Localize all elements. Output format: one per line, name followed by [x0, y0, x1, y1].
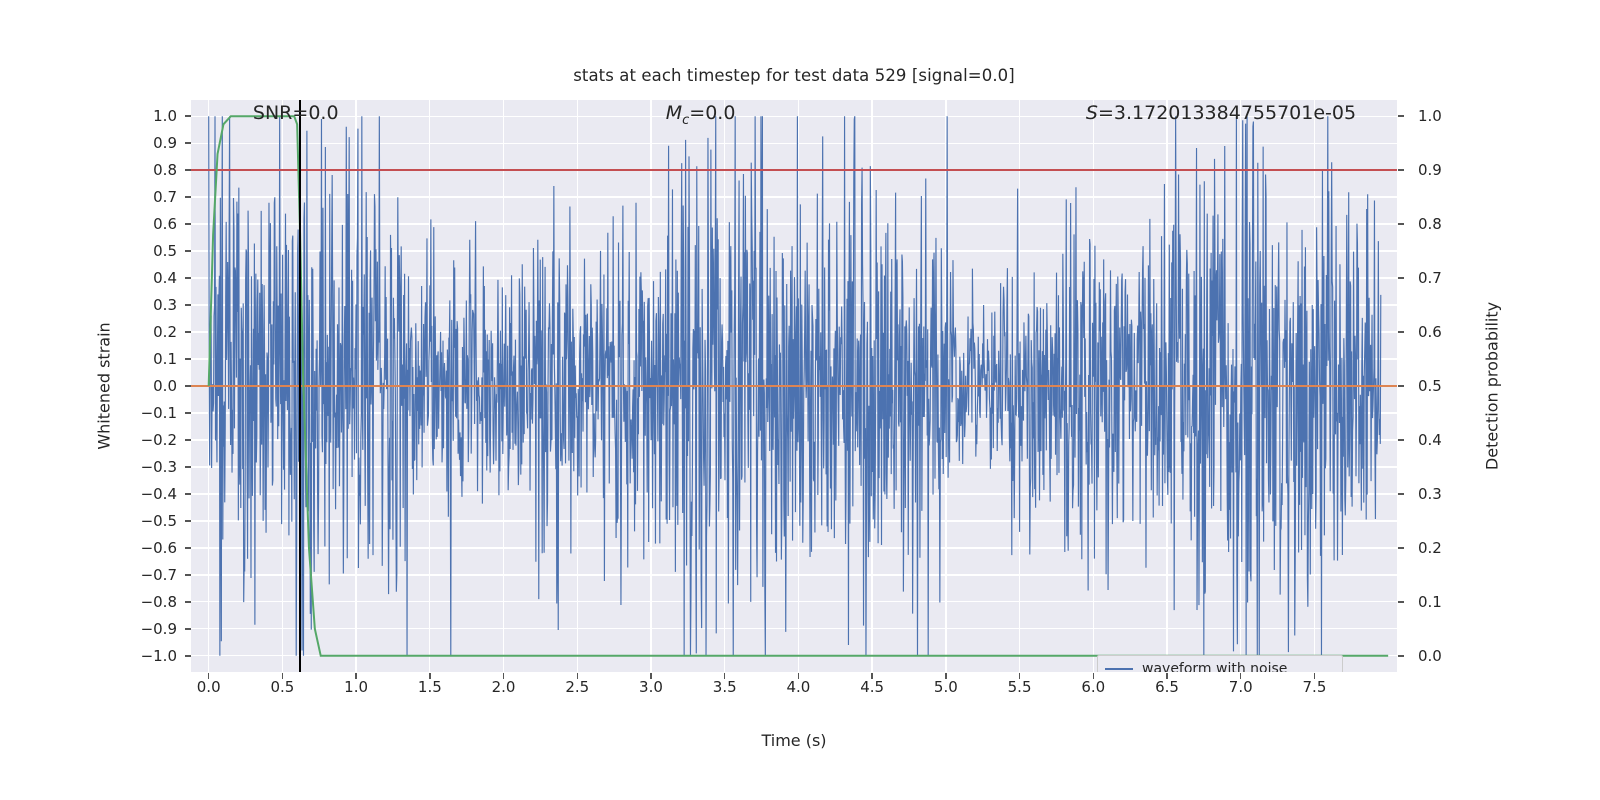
y-tick-label-left: −0.2 [135, 431, 177, 449]
y-tick-label-left: 0.1 [135, 350, 177, 368]
x-tick-mark [871, 673, 872, 679]
y-tick-label-left: 0.3 [135, 296, 177, 314]
y-tick-label-right: 0.3 [1418, 485, 1442, 503]
y-tick-label-left: −1.0 [135, 647, 177, 665]
x-tick-mark [1093, 673, 1094, 679]
y-tick-label-left: 1.0 [135, 107, 177, 125]
y-tick-mark-right [1398, 277, 1404, 278]
y-tick-mark-left [185, 142, 191, 143]
y-axis-left-label: Whitened strain [95, 322, 114, 449]
x-tick-mark [650, 673, 651, 679]
y-tick-label-right: 0.0 [1418, 647, 1442, 665]
y-tick-mark-right [1398, 547, 1404, 548]
y-tick-label-left: −0.9 [135, 620, 177, 638]
y-tick-label-left: 0.2 [135, 323, 177, 341]
x-tick-label: 7.5 [1303, 678, 1327, 696]
x-tick-label: 1.5 [418, 678, 442, 696]
y-tick-mark-left [185, 439, 191, 440]
y-tick-mark-left [185, 115, 191, 116]
x-tick-mark [355, 673, 356, 679]
x-tick-mark [282, 673, 283, 679]
y-axis-right-label: Detection probability [1483, 302, 1502, 470]
legend-swatch-blue-icon [1105, 668, 1133, 670]
x-tick-mark [798, 673, 799, 679]
x-tick-label: 0.0 [197, 678, 221, 696]
annotation-mc-value: 0.0 [705, 102, 735, 124]
legend-item-waveform-with-noise[interactable]: waveform with noise [1105, 660, 1335, 672]
x-tick-mark [945, 673, 946, 679]
x-tick-label: 3.0 [639, 678, 663, 696]
x-tick-label: 6.0 [1081, 678, 1105, 696]
x-tick-label: 0.5 [270, 678, 294, 696]
x-tick-mark [429, 673, 430, 679]
x-axis-label: Time (s) [761, 731, 826, 750]
y-tick-mark-right [1398, 385, 1404, 386]
y-tick-label-left: −0.4 [135, 485, 177, 503]
y-tick-mark-right [1398, 493, 1404, 494]
x-tick-label: 2.0 [492, 678, 516, 696]
annotation-stat-value: 3.172013384755701e-05 [1114, 102, 1356, 124]
y-tick-label-left: 0.9 [135, 134, 177, 152]
y-tick-mark-right [1398, 115, 1404, 116]
y-tick-label-right: 0.2 [1418, 539, 1442, 557]
x-tick-label: 1.0 [344, 678, 368, 696]
y-tick-label-left: −0.3 [135, 458, 177, 476]
annotation-mc-symbol: M [666, 102, 682, 124]
y-tick-mark-left [185, 196, 191, 197]
y-tick-label-left: −0.6 [135, 539, 177, 557]
annotation-stat-symbol: S [1086, 102, 1098, 124]
y-tick-mark-left [185, 331, 191, 332]
y-tick-mark-left [185, 493, 191, 494]
y-tick-mark-left [185, 655, 191, 656]
y-tick-label-left: 0.5 [135, 242, 177, 260]
annotation-statistic: S=3.172013384755701e-05 [1086, 102, 1356, 124]
annotation-snr-value: 0.0 [308, 102, 338, 124]
y-tick-label-right: 0.7 [1418, 269, 1442, 287]
y-tick-mark-left [185, 412, 191, 413]
y-tick-mark-left [185, 304, 191, 305]
x-tick-mark [1240, 673, 1241, 679]
matplotlib-figure: stats at each timestep for test data 529… [0, 0, 1600, 800]
legend[interactable]: waveform with noise waveform without noi… [1097, 655, 1343, 672]
y-tick-mark-left [185, 466, 191, 467]
y-tick-mark-right [1398, 331, 1404, 332]
y-tick-label-right: 0.5 [1418, 377, 1442, 395]
annotation-snr: SNR=0.0 [253, 102, 339, 124]
x-tick-mark [208, 673, 209, 679]
detection-probability-series [191, 100, 1397, 672]
y-tick-mark-right [1398, 223, 1404, 224]
annotation-chirp-mass: Mc=0.0 [666, 102, 736, 128]
y-tick-mark-left [185, 223, 191, 224]
x-tick-label: 5.0 [934, 678, 958, 696]
x-tick-mark [503, 673, 504, 679]
y-tick-label-left: 0.8 [135, 161, 177, 179]
y-tick-mark-left [185, 547, 191, 548]
y-tick-mark-left [185, 574, 191, 575]
y-tick-label-left: 0.4 [135, 269, 177, 287]
legend-label-waveform-with-noise: waveform with noise [1142, 661, 1287, 673]
detection-probability-path [209, 116, 1388, 656]
y-tick-mark-left [185, 601, 191, 602]
annotation-stat-eq: = [1098, 102, 1114, 124]
annotation-mc-eq: = [689, 102, 705, 124]
y-tick-label-left: −0.1 [135, 404, 177, 422]
y-tick-mark-left [185, 277, 191, 278]
x-tick-label: 4.0 [786, 678, 810, 696]
x-tick-mark [1314, 673, 1315, 679]
plot-area: SNR=0.0 Mc=0.0 S=3.172013384755701e-05 w… [191, 100, 1397, 672]
y-tick-label-right: 0.8 [1418, 215, 1442, 233]
y-tick-mark-left [185, 358, 191, 359]
y-tick-label-left: 0.0 [135, 377, 177, 395]
x-tick-label: 2.5 [565, 678, 589, 696]
x-tick-mark [1019, 673, 1020, 679]
y-tick-label-left: 0.6 [135, 215, 177, 233]
y-tick-label-left: 0.7 [135, 188, 177, 206]
y-tick-mark-left [185, 385, 191, 386]
x-tick-label: 4.5 [860, 678, 884, 696]
y-tick-mark-right [1398, 169, 1404, 170]
x-tick-mark [724, 673, 725, 679]
x-tick-mark [577, 673, 578, 679]
y-tick-mark-right [1398, 439, 1404, 440]
annotation-snr-label: SNR= [253, 102, 308, 124]
y-tick-label-right: 0.6 [1418, 323, 1442, 341]
y-tick-label-right: 0.9 [1418, 161, 1442, 179]
y-tick-mark-right [1398, 655, 1404, 656]
y-tick-mark-left [185, 628, 191, 629]
y-tick-label-left: −0.7 [135, 566, 177, 584]
x-tick-label: 5.5 [1008, 678, 1032, 696]
y-tick-label-right: 0.4 [1418, 431, 1442, 449]
merger-time-marker [299, 100, 301, 672]
x-tick-label: 6.5 [1155, 678, 1179, 696]
y-tick-mark-left [185, 520, 191, 521]
y-tick-mark-left [185, 250, 191, 251]
page-title: stats at each timestep for test data 529… [191, 66, 1397, 85]
x-tick-label: 3.5 [713, 678, 737, 696]
y-tick-label-right: 0.1 [1418, 593, 1442, 611]
x-tick-label: 7.0 [1229, 678, 1253, 696]
y-tick-mark-left [185, 169, 191, 170]
x-tick-mark [1166, 673, 1167, 679]
y-tick-label-right: 1.0 [1418, 107, 1442, 125]
y-tick-label-left: −0.8 [135, 593, 177, 611]
y-tick-mark-right [1398, 601, 1404, 602]
y-tick-label-left: −0.5 [135, 512, 177, 530]
